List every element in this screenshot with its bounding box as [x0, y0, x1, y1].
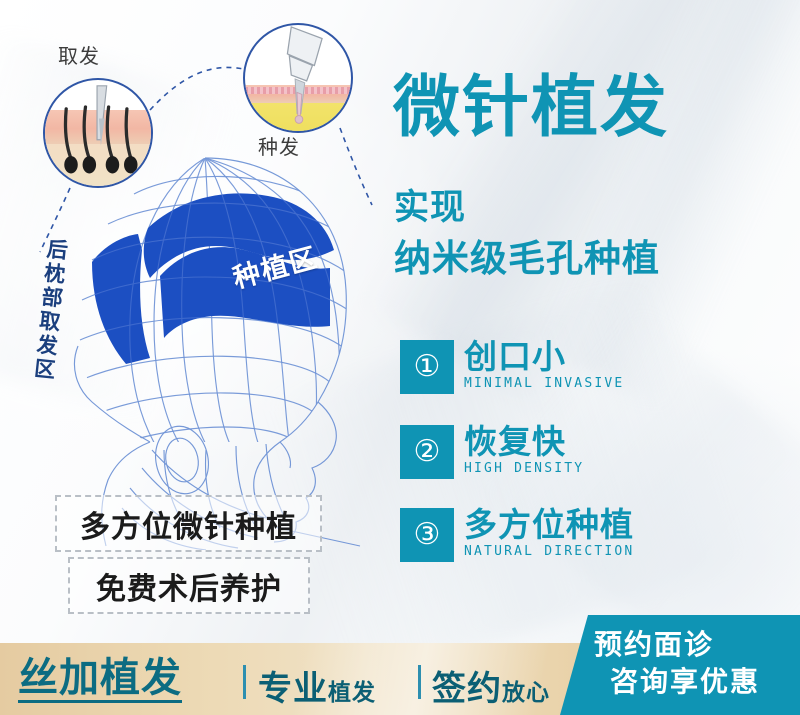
subtitle-line-2: 纳米级毛孔种植 [394, 240, 660, 277]
feature-title: 多方位种植 [464, 508, 634, 543]
hair-implant-needle-icon [245, 25, 351, 131]
feature-subtitle: MINIMAL INVASIVE [464, 376, 624, 391]
slogan-1-big: 专业 [258, 670, 328, 708]
banner-slogan-1: 专业植发 [258, 661, 376, 710]
brand-logo: 丝加植发 [18, 657, 182, 703]
hair-extraction-icon [45, 80, 151, 186]
slogan-1-small: 植发 [328, 679, 376, 705]
banner-divider [243, 665, 246, 699]
subtitle-line-1: 实现 [394, 190, 466, 225]
feature-number-badge: ② [400, 425, 454, 479]
cta-panel[interactable]: 预约面诊 咨询享优惠 [560, 615, 800, 715]
feature-number: ② [414, 437, 441, 467]
feature-title: 创口小 [464, 340, 624, 375]
feature-subtitle: HIGH DENSITY [464, 461, 584, 476]
feature-title: 恢复快 [464, 425, 584, 460]
promise-text: 多方位微针种植 [80, 502, 297, 546]
page-title: 微针植发 [393, 74, 669, 141]
hair-extraction-callout [43, 78, 153, 188]
banner-divider [418, 665, 421, 699]
poster-root: 种植区 后枕部取发区 [0, 0, 800, 715]
feature-number: ① [414, 352, 441, 382]
feature-item-3: ③ 多方位种植 NATURAL DIRECTION [400, 508, 634, 562]
cta-line-2: 咨询享优惠 [610, 665, 800, 702]
feature-number-badge: ① [400, 340, 454, 394]
extraction-label: 取发 [58, 40, 100, 69]
implant-label: 种发 [258, 131, 300, 160]
promise-text: 免费术后养护 [96, 564, 282, 608]
banner-slogan-2: 签约放心 [432, 661, 550, 710]
promise-box-1: 多方位微针种植 [55, 495, 322, 552]
head-wireframe-diagram [30, 150, 390, 550]
feature-number: ③ [414, 520, 441, 550]
feature-number-badge: ③ [400, 508, 454, 562]
promise-box-2: 免费术后养护 [68, 557, 310, 614]
feature-item-1: ① 创口小 MINIMAL INVASIVE [400, 340, 624, 394]
slogan-2-small: 放心 [502, 679, 550, 705]
feature-subtitle: NATURAL DIRECTION [464, 544, 634, 559]
feature-item-2: ② 恢复快 HIGH DENSITY [400, 425, 584, 479]
cta-line-1: 预约面诊 [594, 628, 800, 665]
hair-implant-callout [243, 23, 353, 133]
slogan-2-big: 签约 [432, 670, 502, 708]
